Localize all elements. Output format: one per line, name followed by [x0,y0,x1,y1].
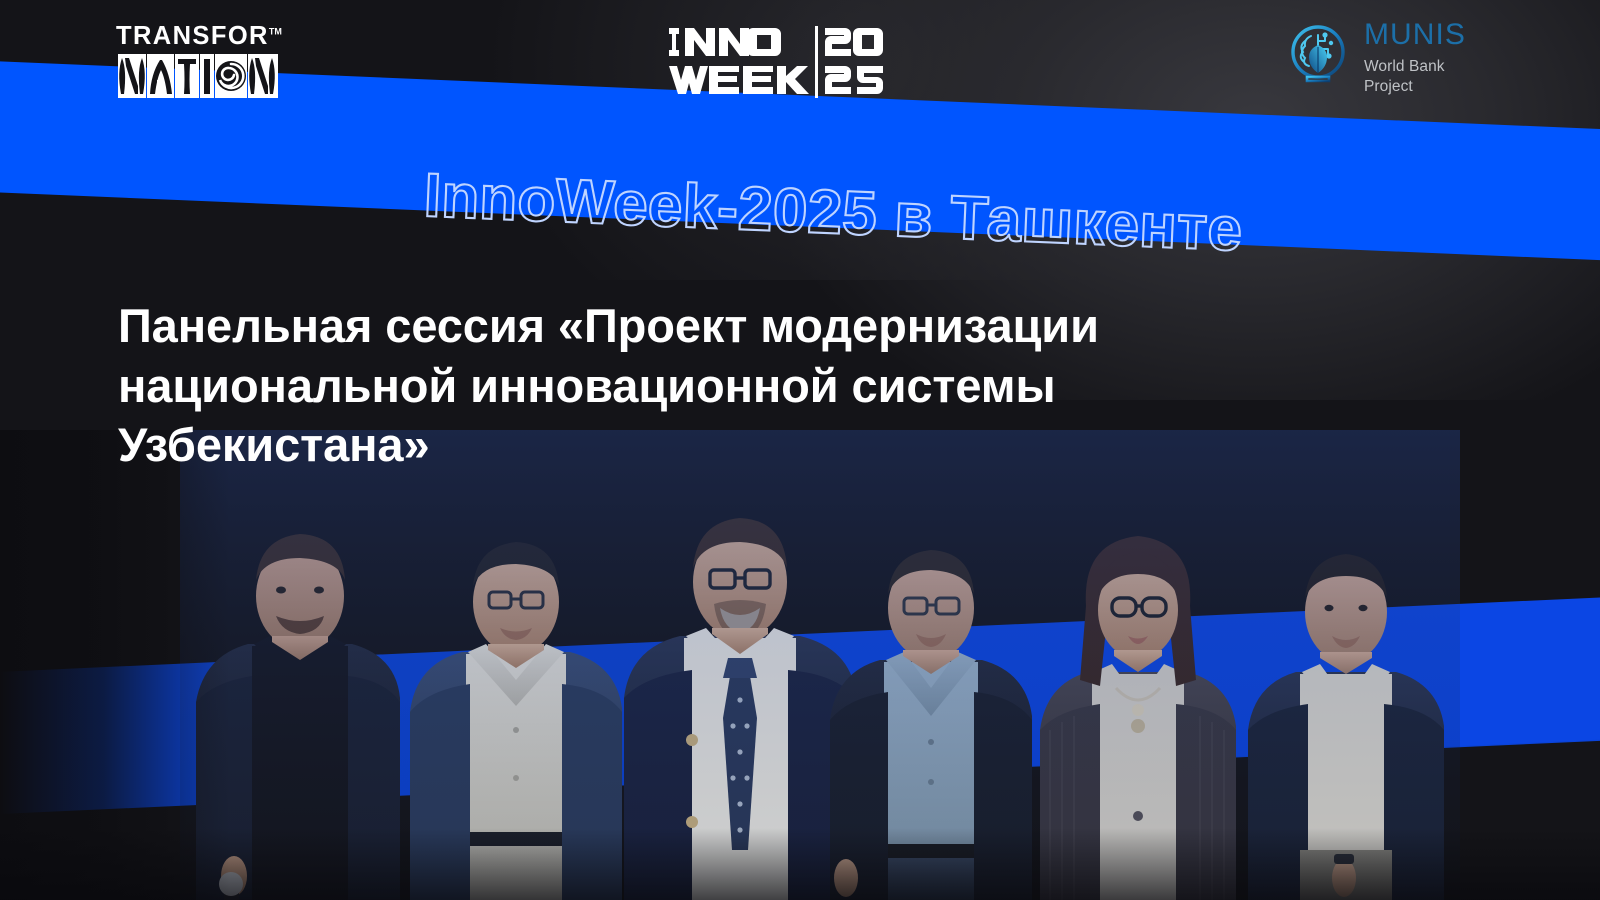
munis-subtitle-line2: Project [1364,77,1466,97]
lightbulb-brain-leaf-icon [1285,21,1351,95]
munis-logo: MUNIS World Bank Project [1285,20,1466,97]
panelists-photo [0,430,1600,900]
logo-row: TRANSFORTM [0,0,1600,118]
event-banner: TRANSFORTM [0,0,1600,900]
munis-text-block: MUNIS World Bank Project [1364,20,1466,97]
munis-subtitle-line1: World Bank [1364,57,1466,77]
session-title-line-2: национальной инновационной системы [118,356,1298,416]
transfornation-wordmark-bottom [116,54,280,98]
transfornation-wordmark-top: TRANSFORTM [116,24,280,50]
session-title-line-1: Панельная сессия «Проект модернизации [118,296,1298,356]
transfornation-top-text: TRANSFOR [116,22,269,50]
munis-subtitle: World Bank Project [1364,57,1466,97]
session-title: Панельная сессия «Проект модернизации на… [118,296,1298,475]
trademark-icon: TM [269,27,282,37]
transfornation-logo: TRANSFORTM [116,24,280,100]
session-title-line-3: Узбекистана» [118,415,1298,475]
munis-name: MUNIS [1364,20,1466,50]
innoweek-logo [665,22,887,102]
